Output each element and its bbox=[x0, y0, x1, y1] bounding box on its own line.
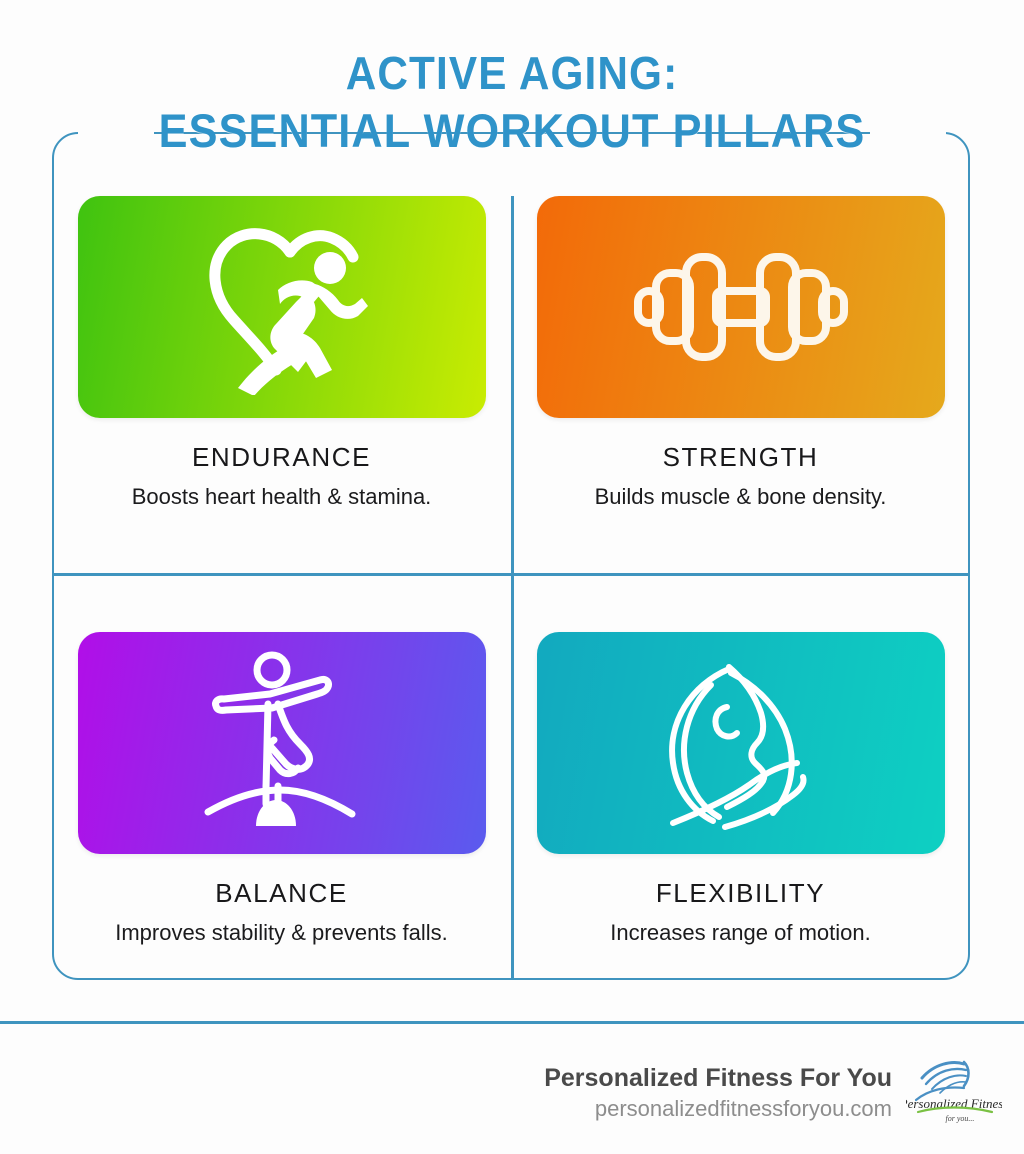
pillar-card-endurance[interactable]: ENDURANCE Boosts heart health & stamina. bbox=[52, 134, 511, 574]
card-description: Builds muscle & bone density. bbox=[595, 482, 887, 512]
frame-notch-left bbox=[78, 130, 154, 136]
card-description: Increases range of motion. bbox=[610, 918, 870, 948]
grid-divider-horizontal bbox=[54, 573, 970, 576]
logo-script-text: Personalized Fitness bbox=[906, 1096, 1002, 1111]
brand-logo: Personalized Fitness for you... bbox=[906, 1056, 1002, 1124]
dumbbell-icon bbox=[626, 247, 856, 367]
grid-divider-vertical bbox=[511, 196, 514, 978]
pillar-card-strength[interactable]: STRENGTH Builds muscle & bone density. bbox=[511, 134, 970, 574]
card-title: FLEXIBILITY bbox=[656, 878, 825, 909]
card-title: BALANCE bbox=[215, 878, 348, 909]
footer-text-block: Personalized Fitness For You personalize… bbox=[544, 1048, 892, 1124]
balance-icon-tile bbox=[78, 632, 486, 854]
flexibility-figure-icon bbox=[651, 651, 831, 836]
footer: Personalized Fitness For You personalize… bbox=[0, 1048, 1024, 1154]
infographic-page: ACTIVE AGING: ESSENTIAL WORKOUT PILLARS bbox=[0, 0, 1024, 1154]
card-description: Improves stability & prevents falls. bbox=[115, 918, 448, 948]
title-line-1: ACTIVE AGING: bbox=[41, 44, 983, 102]
logo-tagline-text: for you... bbox=[946, 1114, 975, 1123]
pillar-card-balance[interactable]: BALANCE Improves stability & prevents fa… bbox=[52, 574, 511, 980]
balance-figure-icon bbox=[202, 648, 362, 838]
heart-runner-icon bbox=[182, 220, 382, 395]
card-title: STRENGTH bbox=[663, 442, 819, 473]
strength-icon-tile bbox=[537, 196, 945, 418]
flexibility-icon-tile bbox=[537, 632, 945, 854]
footer-brand: Personalized Fitness For You bbox=[544, 1062, 892, 1094]
endurance-icon-tile bbox=[78, 196, 486, 418]
card-title: ENDURANCE bbox=[192, 442, 371, 473]
footer-url[interactable]: personalizedfitnessforyou.com bbox=[544, 1094, 892, 1124]
card-description: Boosts heart health & stamina. bbox=[132, 482, 432, 512]
pillar-card-flexibility[interactable]: FLEXIBILITY Increases range of motion. bbox=[511, 574, 970, 980]
footer-divider bbox=[0, 1021, 1024, 1024]
frame-notch-right bbox=[870, 130, 946, 136]
